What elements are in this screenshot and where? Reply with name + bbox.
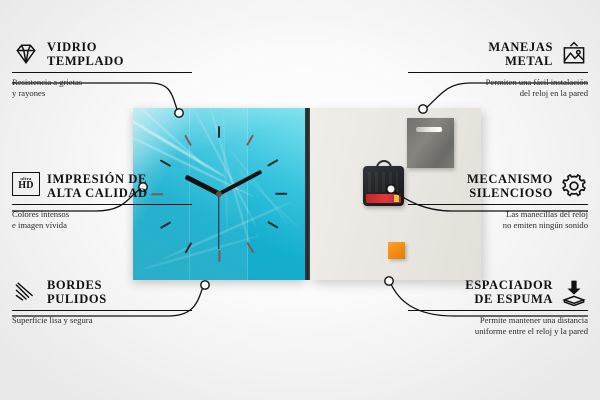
foam-spacer-icon (560, 278, 588, 306)
feature-title-line2: TEMPLADO (47, 54, 124, 68)
clock-center-hub (216, 191, 222, 197)
feature-title-line2: DE ESPUMA (474, 292, 553, 306)
feature-subtitle-line2: uniforme entre el reloj y la pared (475, 326, 588, 336)
battery-terminal (394, 195, 399, 202)
feature-vidrio-templado[interactable]: VIDRIO TEMPLADO Resistencia a grietas y … (12, 40, 192, 100)
feature-divider (408, 72, 588, 73)
mechanism-surface-detail (368, 172, 398, 192)
foam-spacer-pad (388, 242, 405, 259)
feature-manejas-metal[interactable]: MANEJAS METAL Permiten una fácil instala… (408, 40, 588, 100)
feature-subtitle-line2: y rayones (12, 88, 45, 98)
feature-title-line1: VIDRIO (47, 40, 97, 54)
feature-subtitle-line1: Las manecillas del reloj (506, 209, 588, 219)
mechanism-loop (376, 160, 392, 168)
feature-title-line1: ESPACIADOR (465, 278, 553, 292)
feature-espaciador-espuma[interactable]: ESPACIADOR DE ESPUMA Permite mantener un… (408, 278, 588, 338)
metal-hanger-plate (407, 118, 454, 168)
feature-divider (408, 204, 588, 205)
feature-divider (12, 310, 192, 311)
feature-impresion-alta-calidad[interactable]: ultra HD IMPRESIÓN DE ALTA CALIDAD Color… (12, 172, 192, 232)
feature-subtitle-line1: Colores intensos (12, 209, 69, 219)
gear-icon (560, 172, 588, 200)
feature-subtitle-line1: Permiten una fácil instalación (486, 77, 588, 87)
feature-subtitle-line2: del reloj en la pared (520, 88, 588, 98)
feature-title-line1: MANEJAS (488, 40, 553, 54)
polished-edges-icon (12, 278, 40, 306)
feature-subtitle-line1: Superficie lisa y segura (12, 315, 92, 325)
feature-title-line1: BORDES (47, 278, 102, 292)
feature-title-line2: PULIDOS (47, 292, 107, 306)
feature-subtitle-line1: Resistencia a grietas (12, 77, 82, 87)
feature-title-line2: SILENCIOSO (469, 186, 553, 200)
feature-mecanismo-silencioso[interactable]: MECANISMO SILENCIOSO Las manecillas del … (408, 172, 588, 232)
feature-bordes-pulidos[interactable]: BORDES PULIDOS Superficie lisa y segura (12, 278, 192, 326)
feature-title-line2: ALTA CALIDAD (47, 186, 148, 200)
infographic-canvas: VIDRIO TEMPLADO Resistencia a grietas y … (0, 0, 600, 400)
feature-divider (12, 204, 192, 205)
feature-subtitle-line2: no emiten ningún sonido (503, 220, 588, 230)
feature-divider (408, 310, 588, 311)
feature-title-line1: IMPRESIÓN DE (47, 172, 147, 186)
battery-compartment (366, 194, 401, 203)
feature-subtitle-line1: Permite mantener una distancia (480, 315, 588, 325)
feature-divider (12, 72, 192, 73)
hanger-slot (416, 127, 442, 132)
diamond-icon (12, 40, 40, 68)
picture-hanger-icon (560, 40, 588, 68)
clock-mechanism (363, 166, 404, 206)
ultra-hd-icon: ultra HD (12, 172, 40, 200)
connector-dot-bordes (201, 281, 209, 289)
ultra-hd-icon-main: HD (18, 181, 33, 191)
clock-minute-hand (218, 170, 262, 196)
feature-subtitle-line2: e imagen vívida (12, 220, 67, 230)
feature-title-line1: MECANISMO (467, 172, 553, 186)
feature-title-line2: METAL (505, 54, 553, 68)
clock-second-hand (218, 194, 219, 249)
